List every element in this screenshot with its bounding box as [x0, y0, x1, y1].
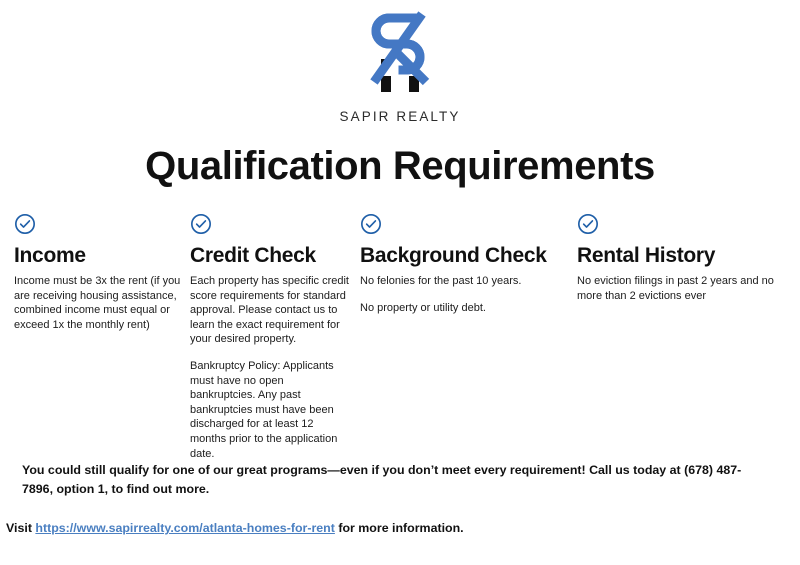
visit-suffix: for more information.	[335, 521, 464, 535]
brand-logo: SAPIR REALTY	[0, 8, 800, 124]
requirement-paragraph: No eviction filings in past 2 years and …	[577, 274, 795, 303]
brand-wordmark: SAPIR REALTY	[0, 109, 800, 124]
page-title: Qualification Requirements	[0, 140, 800, 192]
requirement-paragraph: Income must be 3x the rent (if you are r…	[14, 274, 182, 332]
requirement-paragraph: Bankruptcy Policy: Applicants must have …	[190, 359, 350, 461]
requirement-column-background-check: Background Check No felonies for the pas…	[360, 213, 572, 315]
requirement-heading: Credit Check	[190, 244, 350, 268]
check-circle-icon	[577, 213, 599, 235]
requirement-column-income: Income Income must be 3x the rent (if yo…	[14, 213, 182, 332]
website-link[interactable]: https://www.sapirrealty.com/atlanta-home…	[35, 521, 335, 535]
requirement-column-credit-check: Credit Check Each property has specific …	[190, 213, 350, 461]
check-circle-icon	[360, 213, 382, 235]
check-circle-icon	[14, 213, 36, 235]
visit-line: Visit https://www.sapirrealty.com/atlant…	[6, 519, 786, 537]
requirement-paragraph: No felonies for the past 10 years.	[360, 274, 572, 289]
requirement-column-rental-history: Rental History No eviction filings in pa…	[577, 213, 795, 303]
check-circle-icon	[190, 213, 212, 235]
sapir-realty-monogram-icon	[352, 8, 448, 108]
requirement-heading: Income	[14, 244, 182, 268]
requirement-paragraph: Each property has specific credit score …	[190, 274, 350, 347]
qualify-callout-text: You could still qualify for one of our g…	[22, 461, 762, 499]
requirement-paragraph: No property or utility debt.	[360, 301, 572, 316]
visit-prefix: Visit	[6, 521, 35, 535]
requirement-heading: Background Check	[360, 244, 572, 268]
requirement-heading: Rental History	[577, 244, 795, 268]
requirements-grid: Income Income must be 3x the rent (if yo…	[0, 213, 800, 438]
